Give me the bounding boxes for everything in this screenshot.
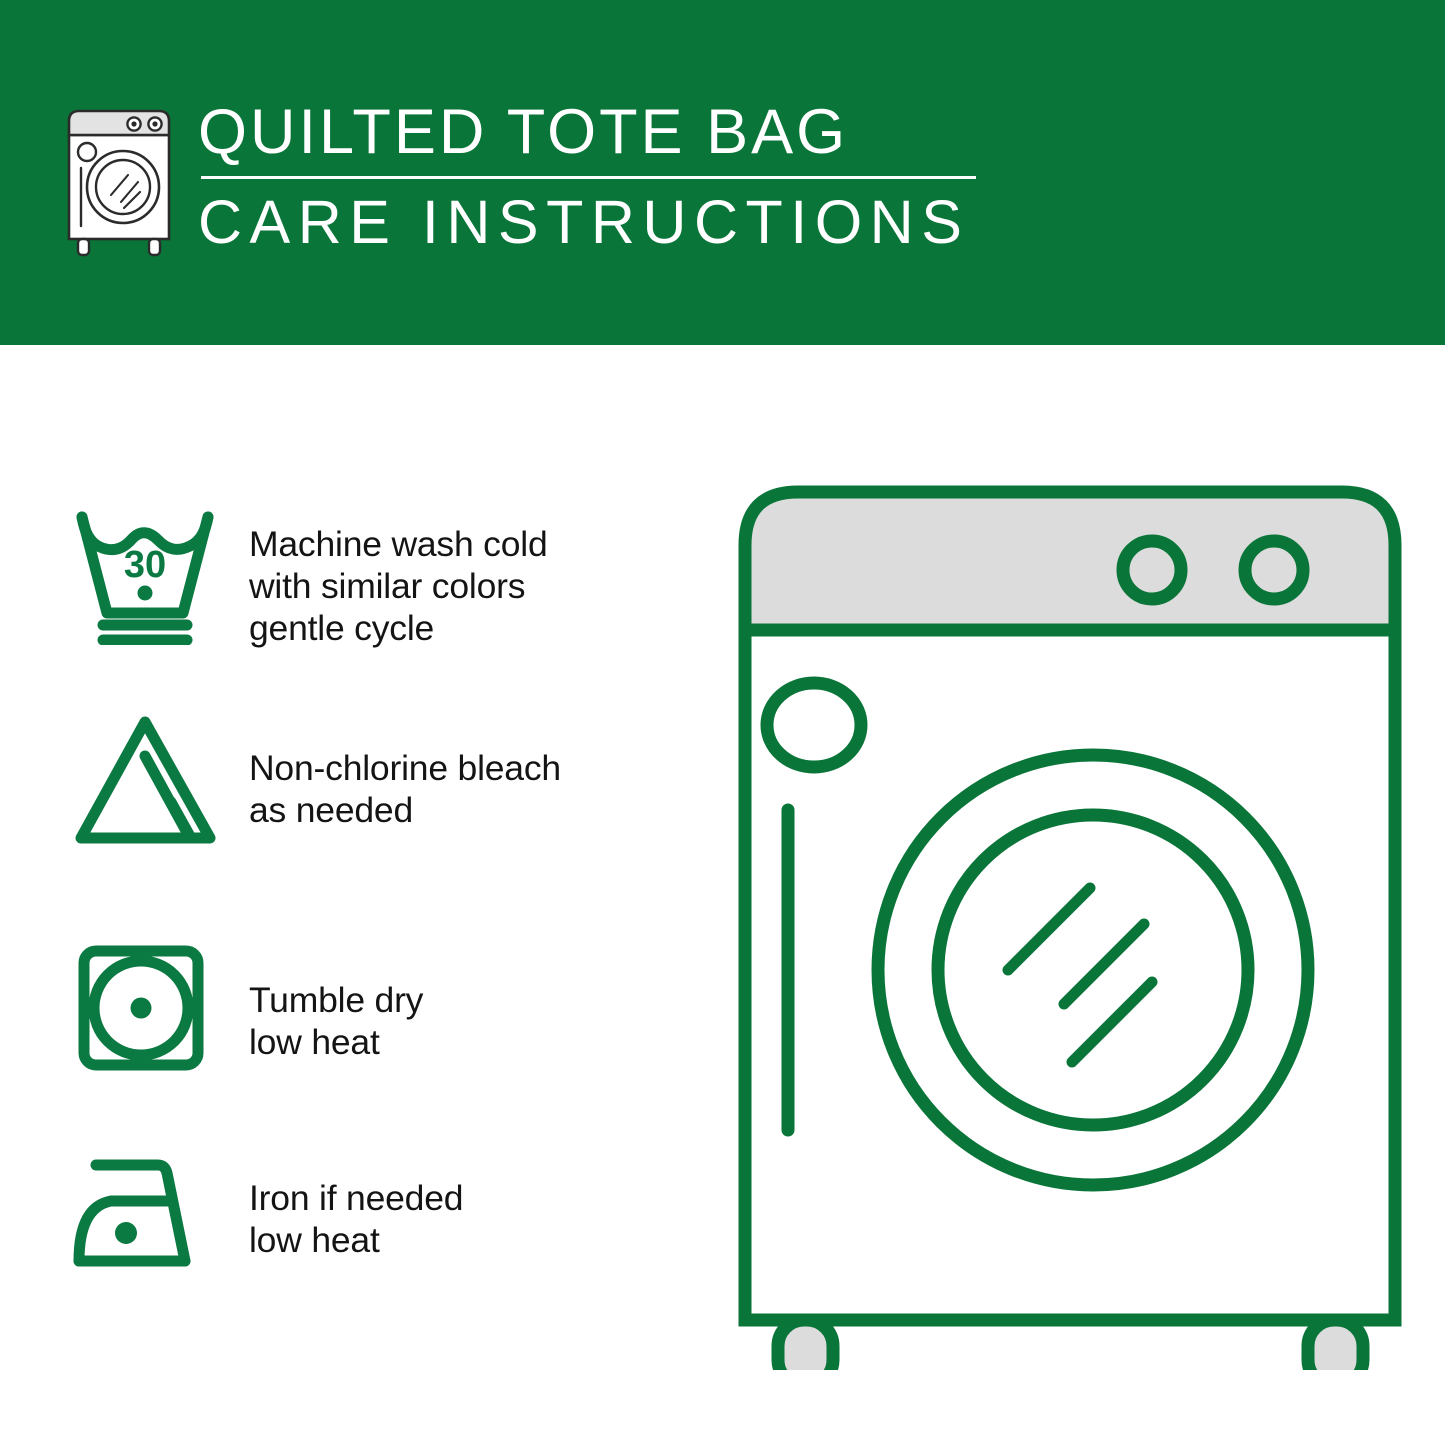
care-label-tumble-dry: Tumble dry low heat xyxy=(249,979,423,1063)
care-instructions-page: QUILTED TOTE BAG CARE INSTRUCTIONS xyxy=(0,0,1445,1445)
care-label-line: Tumble dry xyxy=(249,979,423,1021)
page-title: QUILTED TOTE BAG xyxy=(198,95,976,169)
care-row-bleach: Non-chlorine bleach as needed xyxy=(70,710,690,860)
knob-right xyxy=(1245,541,1303,599)
leg-left xyxy=(778,1320,833,1370)
care-label-line: with similar colors xyxy=(249,565,548,607)
title-divider xyxy=(201,176,976,179)
care-row-tumble-dry: Tumble dry low heat xyxy=(70,937,690,1087)
care-label-bleach: Non-chlorine bleach as needed xyxy=(249,747,561,831)
washing-machine-icon xyxy=(60,103,178,261)
care-label-line: Iron if needed xyxy=(249,1177,463,1219)
page-subtitle: CARE INSTRUCTIONS xyxy=(198,187,976,257)
wash-tub-30-icon: 30 xyxy=(70,495,230,645)
tumble-dry-icon xyxy=(70,937,230,1087)
header-title-block: QUILTED TOTE BAG CARE INSTRUCTIONS xyxy=(198,95,976,257)
care-label-iron: Iron if needed low heat xyxy=(249,1177,463,1261)
care-row-machine-wash: 30 Machine wash cold with similar colors… xyxy=(70,495,690,649)
care-label-line: low heat xyxy=(249,1021,423,1063)
care-label-line: Machine wash cold xyxy=(249,523,548,565)
care-label-machine-wash: Machine wash cold with similar colors ge… xyxy=(249,523,548,649)
bleach-triangle-icon xyxy=(70,710,230,860)
care-row-iron: Iron if needed low heat xyxy=(70,1145,690,1295)
care-label-line: gentle cycle xyxy=(249,607,548,649)
knob-left xyxy=(1123,541,1181,599)
care-label-line: Non-chlorine bleach xyxy=(249,747,561,789)
care-instruction-list: 30 Machine wash cold with similar colors… xyxy=(0,345,700,1445)
iron-icon xyxy=(70,1145,230,1295)
header-content: QUILTED TOTE BAG CARE INSTRUCTIONS xyxy=(60,95,976,261)
dispenser-circle xyxy=(767,683,861,767)
leg-right xyxy=(1308,1320,1363,1370)
care-label-line: low heat xyxy=(249,1219,463,1261)
washing-machine-illustration xyxy=(720,470,1420,1370)
wash-temperature-label: 30 xyxy=(124,544,166,586)
page-header: QUILTED TOTE BAG CARE INSTRUCTIONS xyxy=(0,0,1445,345)
care-label-line: as needed xyxy=(249,789,561,831)
